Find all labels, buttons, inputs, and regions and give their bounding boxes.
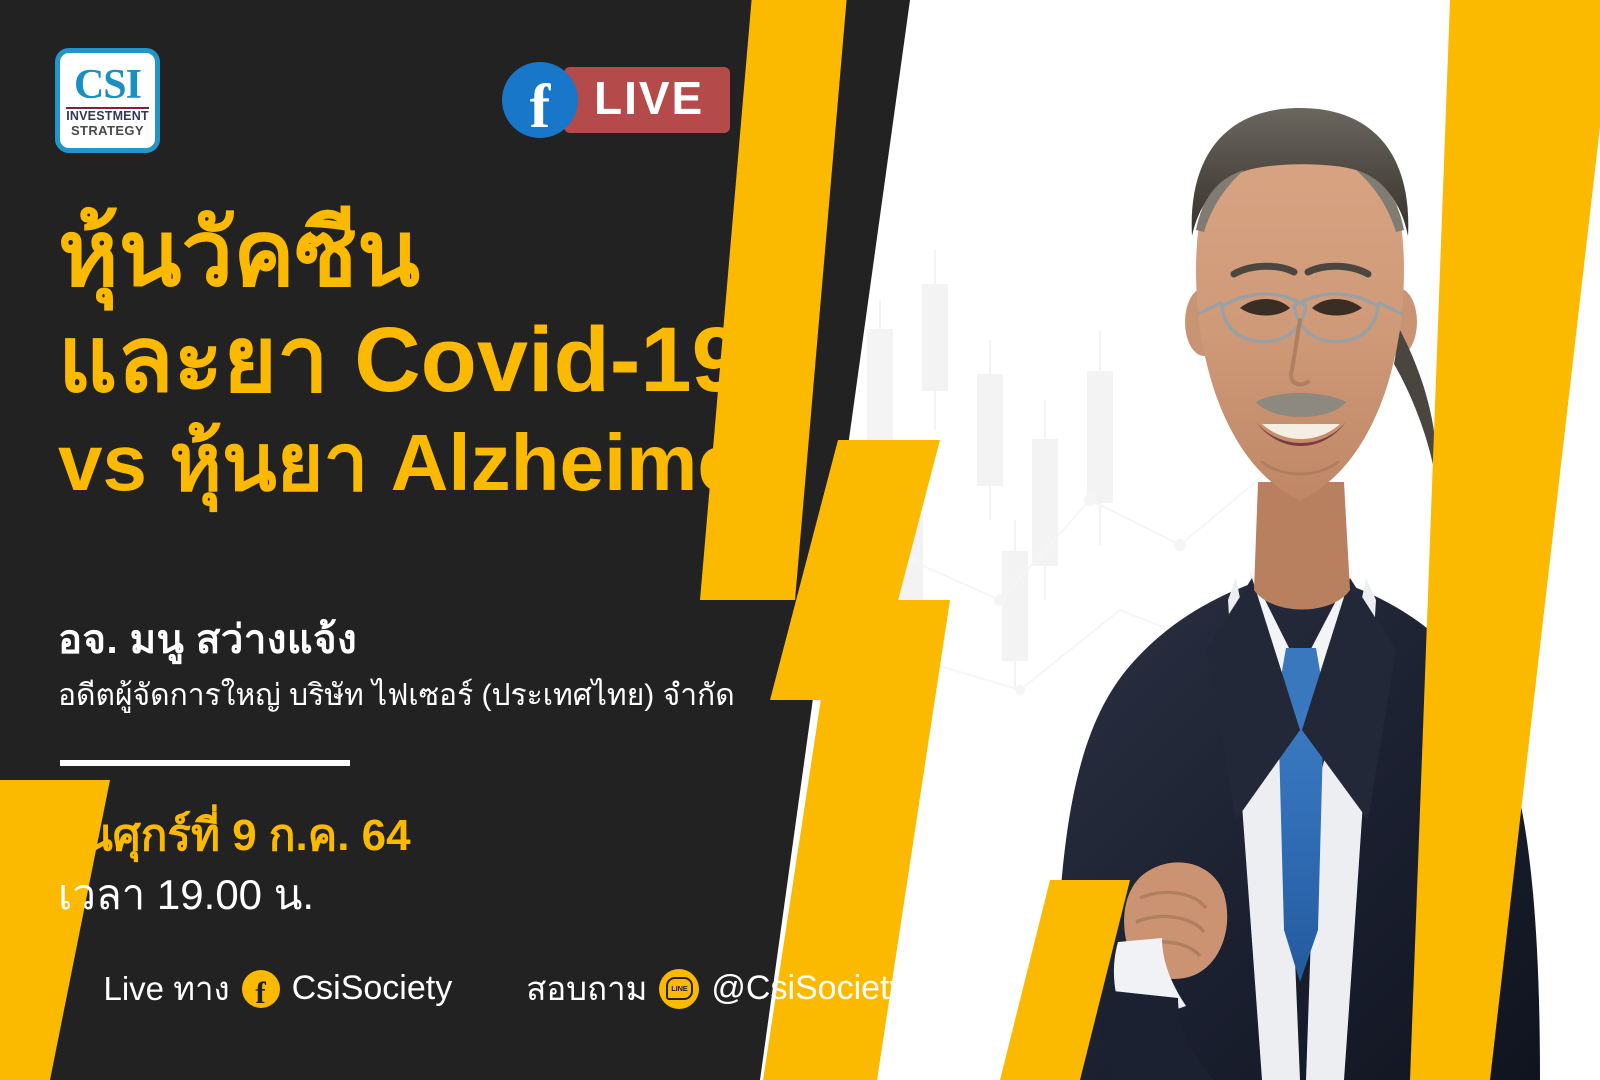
logo-title: CSI (74, 66, 141, 106)
headline-line-1: หุ้นวัคซีน (58, 206, 898, 304)
facebook-mini-glyph: f (255, 977, 265, 1008)
line-mini-icon[interactable]: LINE (659, 969, 699, 1009)
live-label: LIVE (564, 67, 730, 134)
facebook-f-glyph: f (530, 76, 551, 138)
facebook-mini-icon[interactable]: f (242, 970, 280, 1008)
footer-facebook-group[interactable]: Live ทาง f CsiSociety (103, 962, 452, 1015)
logo-subtitle-investment: INVESTMENT (66, 107, 149, 124)
headline-block: หุ้นวัคซีน และยา Covid-19 vs หุ้นยา Alzh… (58, 206, 898, 506)
footer-facebook-handle[interactable]: CsiSociety (292, 969, 453, 1008)
footer-live-prefix: Live ทาง (103, 962, 229, 1015)
facebook-live-badge: f LIVE (502, 62, 730, 138)
event-time: เวลา 19.00 น. (58, 862, 314, 928)
logo-subtitle-strategy: STRATEGY (71, 124, 144, 138)
headline-line-3: vs หุ้นยา Alzheimer (58, 421, 898, 506)
footer-bar: Live ทาง f CsiSociety สอบถาม LINE @CsiSo… (0, 962, 1010, 1015)
divider-rule (60, 760, 350, 766)
footer-line-group[interactable]: สอบถาม LINE @CsiSociety (526, 962, 906, 1015)
facebook-f-icon: f (502, 62, 578, 138)
line-bubble-shape: LINE (666, 977, 693, 1000)
speaker-role: อดีตผู้จัดการใหญ่ บริษัท ไฟเซอร์ (ประเทศ… (58, 672, 735, 719)
speaker-name: อจ. มนู สว่างแจ้ง (58, 607, 357, 671)
promo-poster: CSI INVESTMENT STRATEGY f LIVE หุ้นวัคซี… (0, 0, 1600, 1080)
event-date: วันศุกร์ที่ 9 ก.ค. 64 (58, 800, 411, 870)
footer-line-handle[interactable]: @CsiSociety (711, 969, 906, 1008)
footer-contact-prefix: สอบถาม (526, 962, 647, 1015)
headline-line-2: และยา Covid-19 (58, 312, 898, 410)
csi-logo: CSI INVESTMENT STRATEGY (55, 48, 160, 153)
line-icon-label: LINE (671, 985, 687, 993)
